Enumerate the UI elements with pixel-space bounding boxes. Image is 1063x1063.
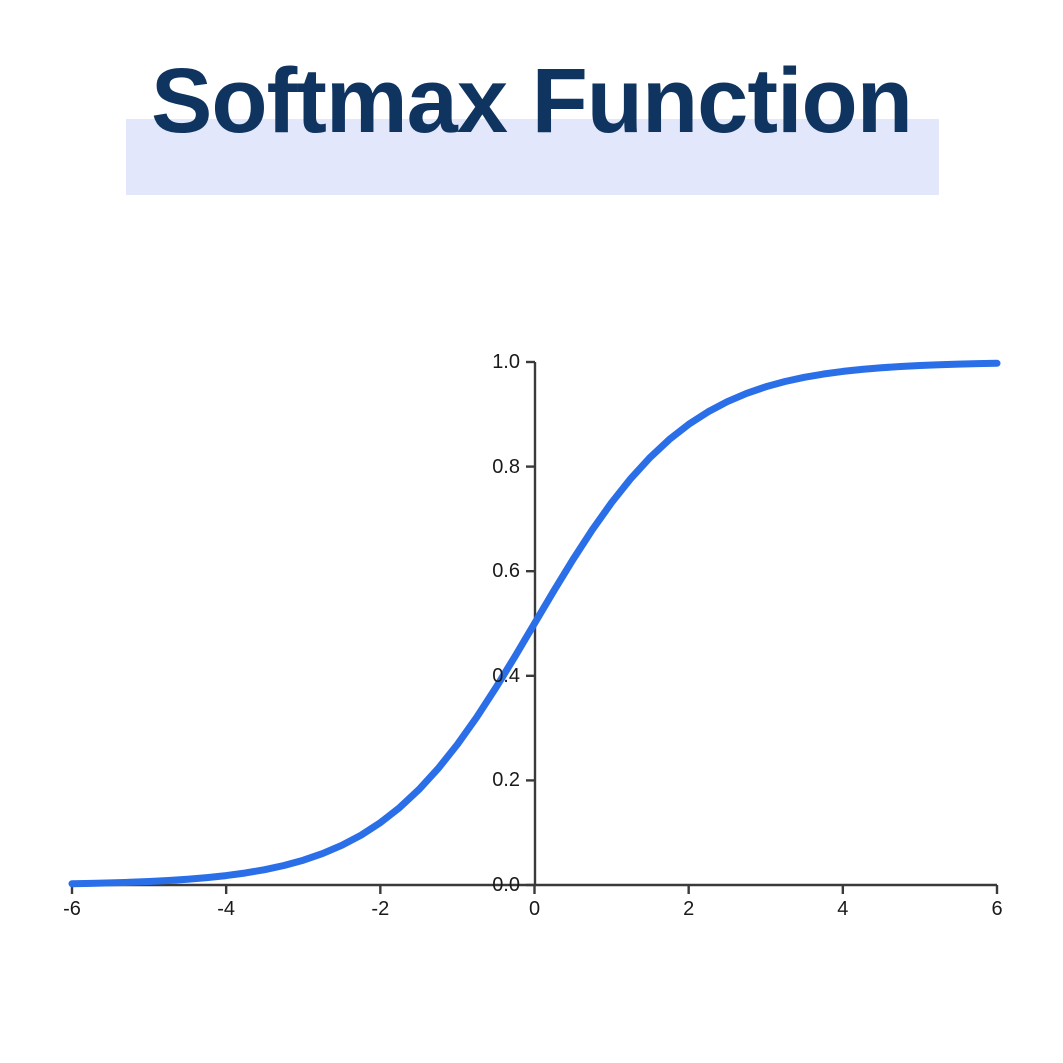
chart-plot-area: -6-4-202460.00.20.40.60.81.0 — [0, 0, 1063, 1063]
x-tick-label: -4 — [196, 899, 256, 919]
x-tick-label: 0 — [505, 899, 565, 919]
x-tick-label: -6 — [42, 899, 102, 919]
y-tick-label: 0.6 — [460, 561, 520, 581]
y-tick-label: 0.2 — [460, 770, 520, 790]
y-tick-label: 0.4 — [460, 666, 520, 686]
x-tick-label: 6 — [967, 899, 1027, 919]
y-tick-label: 1.0 — [460, 352, 520, 372]
x-tick-label: -2 — [350, 899, 410, 919]
x-tick-label: 2 — [659, 899, 719, 919]
y-tick-label: 0.0 — [460, 875, 520, 895]
x-tick-label: 4 — [813, 899, 873, 919]
y-tick-label: 0.8 — [460, 457, 520, 477]
chart-page: Softmax Function -6-4-202460.00.20.40.60… — [0, 0, 1063, 1063]
